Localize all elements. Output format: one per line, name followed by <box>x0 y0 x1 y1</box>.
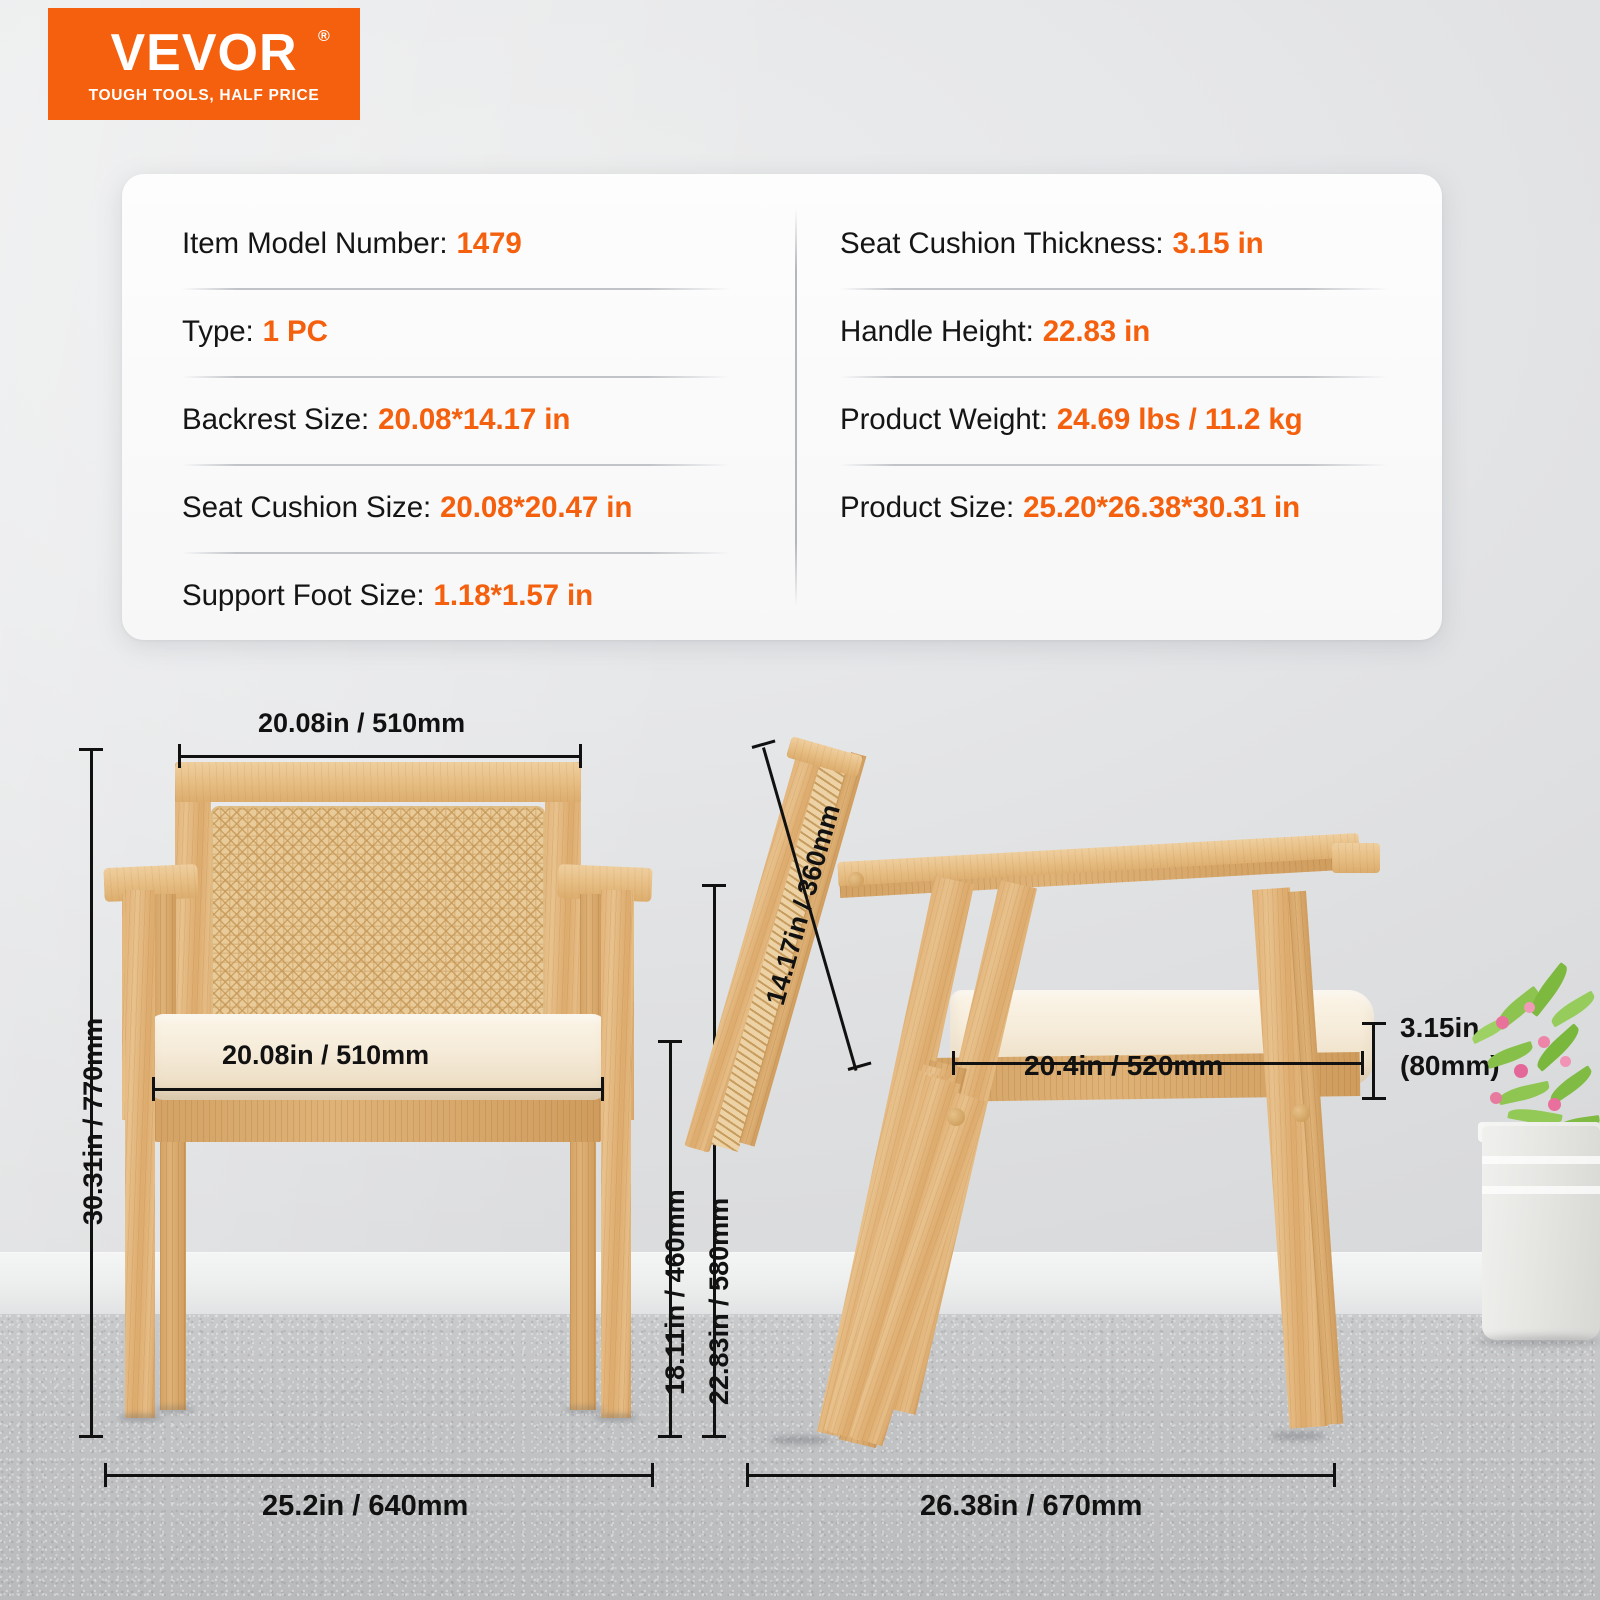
dim-label-overall-width: 25.2in / 640mm <box>262 1490 468 1523</box>
plant-blossom <box>1496 1016 1509 1029</box>
rear-leg-shadow-right <box>564 1406 604 1413</box>
dim-cap <box>702 1435 726 1438</box>
spec-row-item-model-number: Item Model Number: 1479 <box>182 200 756 288</box>
baseboard <box>0 1252 1600 1314</box>
spec-value: 3.15 in <box>1172 227 1263 261</box>
dim-cap <box>579 744 582 768</box>
spec-label: Product Size: <box>840 491 1014 525</box>
dim-cap <box>1361 1051 1364 1075</box>
plant-blossom <box>1548 1098 1561 1111</box>
rear-leg-shadow-left <box>154 1406 194 1413</box>
spec-value: 1 PC <box>263 315 328 349</box>
spec-label: Support Foot Size: <box>182 579 425 613</box>
dim-label-cushion-thickness-mm: (80mm) <box>1400 1050 1500 1082</box>
side-foot-shadow-left <box>770 1436 830 1444</box>
spec-value: 25.20*26.38*30.31 in <box>1023 491 1300 525</box>
dim-cap <box>651 1463 654 1487</box>
dim-cap <box>952 1051 955 1075</box>
spec-value: 20.08*14.17 in <box>378 403 570 437</box>
vevor-logo: VEVOR TOUGH TOOLS, HALF PRICE <box>48 8 360 120</box>
spec-row-type: Type: 1 PC <box>182 288 756 376</box>
dim-label-overall-height: 30.31in / 770mm <box>78 1018 109 1225</box>
dim-cap <box>178 744 181 768</box>
spec-column-left: Item Model Number: 1479 Type: 1 PC Backr… <box>122 174 784 640</box>
dowel-peg-right-leg <box>1292 1104 1310 1122</box>
side-foot-shadow-right <box>1270 1432 1326 1440</box>
spec-label: Product Weight: <box>840 403 1048 437</box>
spec-row-product-weight: Product Weight: 24.69 lbs / 11.2 kg <box>840 376 1414 464</box>
dowel-peg-armrest <box>848 872 864 888</box>
side-armrest-end-cap <box>1332 843 1380 873</box>
dowel-peg-left-leg <box>947 1108 965 1126</box>
chair-front-leg-left <box>125 890 155 1418</box>
spec-label: Backrest Size: <box>182 403 369 437</box>
dim-cap <box>1362 1022 1386 1025</box>
spec-label: Seat Cushion Thickness: <box>840 227 1163 261</box>
spec-row-seat-cushion-size: Seat Cushion Size: 20.08*20.47 in <box>182 464 756 552</box>
spec-value: 20.08*20.47 in <box>440 491 632 525</box>
plant-blossom <box>1560 1056 1571 1067</box>
spec-row-handle-height: Handle Height: 22.83 in <box>840 288 1414 376</box>
spec-label: Type: <box>182 315 254 349</box>
seat-apron-rail <box>155 1100 601 1142</box>
chair-front-leg-right <box>601 890 631 1418</box>
spec-row-support-foot-size: Support Foot Size: 1.18*1.57 in <box>182 552 756 640</box>
dim-cap <box>79 1435 103 1438</box>
floor-texture <box>0 1314 1600 1600</box>
spec-label: Seat Cushion Size: <box>182 491 431 525</box>
spec-value: 1479 <box>456 227 521 261</box>
spec-label: Handle Height: <box>840 315 1034 349</box>
spec-row-product-size: Product Size: 25.20*26.38*30.31 in <box>840 464 1414 552</box>
dim-cap <box>1333 1463 1336 1487</box>
spec-value: 22.83 in <box>1043 315 1150 349</box>
leg-shadow-left <box>118 1414 162 1421</box>
brand-name: VEVOR <box>110 27 297 79</box>
chair-rear-leg-left <box>160 1110 186 1410</box>
dim-cap <box>658 1435 682 1438</box>
brand-tagline: TOUGH TOOLS, HALF PRICE <box>89 87 320 105</box>
dim-cap <box>746 1463 749 1487</box>
spec-row-backrest-size: Backrest Size: 20.08*14.17 in <box>182 376 756 464</box>
dim-cap <box>601 1077 604 1101</box>
plant-blossom <box>1524 1002 1535 1013</box>
plant-pot-stripe <box>1482 1186 1600 1194</box>
backrest-top-rail <box>175 762 581 802</box>
specification-card: Item Model Number: 1479 Type: 1 PC Backr… <box>122 174 1442 640</box>
plant-pot-shadow <box>1476 1336 1600 1346</box>
dim-cap <box>152 1077 155 1101</box>
dim-label-backrest-width: 20.08in / 510mm <box>258 708 465 739</box>
spec-column-right: Seat Cushion Thickness: 3.15 in Handle H… <box>784 174 1442 640</box>
spec-value: 24.69 lbs / 11.2 kg <box>1057 403 1303 437</box>
dim-line-overall-depth <box>746 1474 1336 1477</box>
spec-label: Item Model Number: <box>182 227 447 261</box>
dim-label-seat-depth: 20.4in / 520mm <box>1024 1050 1223 1082</box>
dim-cap <box>658 1040 682 1043</box>
dim-cap <box>79 748 103 751</box>
plant-blossom <box>1514 1064 1528 1078</box>
chair-rear-leg-right <box>570 1110 596 1410</box>
dim-label-cushion-thickness: 3.15in <box>1400 1012 1479 1044</box>
registered-trademark-icon: ® <box>318 28 330 46</box>
dim-cap <box>104 1463 107 1487</box>
spec-value: 1.18*1.57 in <box>434 579 594 613</box>
product-spec-image: VEVOR TOUGH TOOLS, HALF PRICE ® Item Mod… <box>0 0 1600 1600</box>
spec-row-seat-cushion-thickness: Seat Cushion Thickness: 3.15 in <box>840 200 1414 288</box>
dim-line-backrest-width <box>178 755 582 758</box>
dim-line-cushion-thickness <box>1372 1022 1375 1100</box>
plant-blossom <box>1538 1036 1550 1048</box>
dim-label-armrest-height: 22.83in / 580mm <box>704 1198 735 1405</box>
dim-label-seat-height: 18.11in / 460mm <box>660 1189 691 1395</box>
plant-blossom <box>1490 1092 1502 1104</box>
dim-label-seat-width: 20.08in / 510mm <box>222 1040 429 1071</box>
plant-pot-stripe <box>1482 1156 1600 1164</box>
dim-line-seat-width <box>152 1088 604 1091</box>
dim-cap <box>702 884 726 887</box>
dim-cap <box>1362 1097 1386 1100</box>
leg-shadow-right <box>594 1414 638 1421</box>
dim-label-overall-depth: 26.38in / 670mm <box>920 1490 1142 1523</box>
dim-line-overall-width <box>104 1474 654 1477</box>
